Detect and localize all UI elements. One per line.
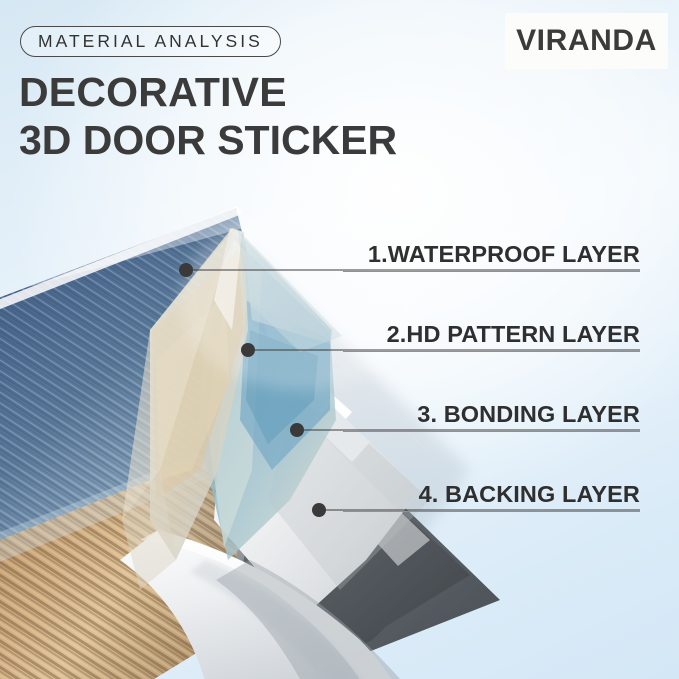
callout-rule-1 — [343, 271, 640, 272]
callout-label-2: 2.HD PATTERN LAYER — [343, 321, 640, 348]
callout-rule-2 — [343, 351, 640, 352]
callout-bonding-layer: 3. BONDING LAYER — [343, 401, 640, 432]
brand-name: VIRANDA — [516, 24, 657, 58]
callout-dot-1 — [179, 263, 193, 277]
callout-rule-4 — [343, 511, 640, 512]
callout-label-4: 4. BACKING LAYER — [343, 481, 640, 508]
page-title: DECORATIVE 3D DOOR STICKER — [19, 68, 397, 164]
brand-logo-box: VIRANDA — [505, 13, 668, 69]
poster-canvas: 1.WATERPROOF LAYER 2.HD PATTERN LAYER 3.… — [0, 0, 679, 679]
eyebrow-label: MATERIAL ANALYSIS — [38, 31, 263, 52]
callout-hd-pattern-layer: 2.HD PATTERN LAYER — [343, 321, 640, 352]
callout-dot-4 — [312, 503, 326, 517]
callout-waterproof-layer: 1.WATERPROOF LAYER — [343, 241, 640, 272]
callout-dot-3 — [290, 423, 304, 437]
callout-dot-2 — [241, 343, 255, 357]
callout-label-1: 1.WATERPROOF LAYER — [343, 241, 640, 268]
page-title-line-1: DECORATIVE — [19, 68, 397, 116]
eyebrow-badge: MATERIAL ANALYSIS — [20, 26, 281, 57]
callout-backing-layer: 4. BACKING LAYER — [343, 481, 640, 512]
callout-rule-3 — [343, 431, 640, 432]
page-title-line-2: 3D DOOR STICKER — [19, 116, 397, 164]
callout-label-3: 3. BONDING LAYER — [343, 401, 640, 428]
